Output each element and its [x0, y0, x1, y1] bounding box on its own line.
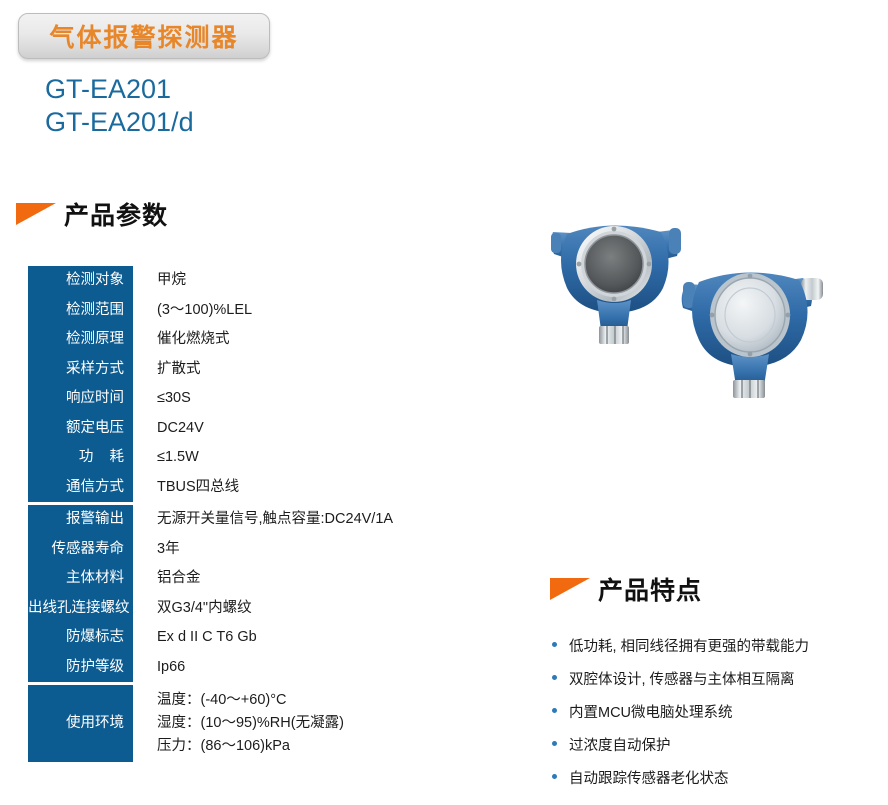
table-row: 检测原理 催化燃烧式	[28, 325, 433, 355]
spec-value: Ex d II C T6 Gb	[133, 623, 257, 653]
table-row: 通信方式 TBUS四总线	[28, 473, 433, 503]
spec-label: 主体材料	[28, 564, 133, 594]
spec-label: 传感器寿命	[28, 535, 133, 565]
model-number-list: GT-EA201 GT-EA201/d	[45, 73, 194, 139]
spec-label: 通信方式	[28, 473, 133, 503]
spec-value: TBUS四总线	[133, 473, 239, 503]
page-title-features: 产品特点	[598, 578, 702, 604]
orange-triangle-icon	[550, 578, 590, 600]
spec-value: 双G3/4"内螺纹	[133, 594, 252, 624]
table-row: 采样方式 扩散式	[28, 355, 433, 385]
product-category-badge: 气体报警探测器	[18, 13, 270, 59]
spec-value: 甲烷	[133, 266, 186, 296]
product-features-heading: 产品特点	[550, 578, 702, 604]
spec-value: 催化燃烧式	[133, 325, 230, 355]
feature-text: 自动跟踪传感器老化状态	[569, 763, 729, 796]
spec-group-basic: 检测对象 甲烷 检测范围 (3～100)%LEL 检测原理 催化燃烧式 采样方式…	[28, 266, 433, 502]
table-row: 检测范围 (3～100)%LEL	[28, 296, 433, 326]
table-row: 防护等级 Ip66	[28, 653, 433, 683]
page-title-parameters: 产品参数	[64, 203, 168, 229]
spec-value-temperature: 温度：(-40～+60)°C	[157, 689, 344, 712]
spec-value: ≤30S	[133, 384, 191, 414]
spec-group-environment: 使用环境 温度：(-40～+60)°C 湿度：(10～95)%RH(无凝露) 压…	[28, 685, 433, 762]
spec-value: 扩散式	[133, 355, 201, 385]
specifications-table: 检测对象 甲烷 检测范围 (3～100)%LEL 检测原理 催化燃烧式 采样方式…	[28, 266, 433, 762]
spec-label: 响应时间	[28, 384, 133, 414]
detector-unit-left	[551, 225, 681, 344]
detector-unit-right	[682, 272, 823, 398]
spec-label: 防爆标志	[28, 623, 133, 653]
table-row: 检测对象 甲烷	[28, 266, 433, 296]
table-row: 使用环境 温度：(-40～+60)°C 湿度：(10～95)%RH(无凝露) 压…	[28, 685, 433, 762]
bullet-dot-icon	[552, 708, 557, 713]
bullet-dot-icon	[552, 675, 557, 680]
model-number-primary: GT-EA201	[45, 73, 194, 106]
table-row: 额定电压 DC24V	[28, 414, 433, 444]
list-item: 过浓度自动保护	[552, 730, 882, 763]
spec-value: 温度：(-40～+60)°C 湿度：(10～95)%RH(无凝露) 压力：(86…	[133, 685, 344, 762]
spec-label: 检测原理	[28, 325, 133, 355]
table-row: 传感器寿命 3年	[28, 535, 433, 565]
spec-value: DC24V	[133, 414, 204, 444]
feature-text: 双腔体设计, 传感器与主体相互隔离	[569, 664, 795, 697]
spec-label: 采样方式	[28, 355, 133, 385]
spec-group-hardware: 报警输出 无源开关量信号,触点容量:DC24V/1A 传感器寿命 3年 主体材料…	[28, 505, 433, 682]
feature-text: 低功耗, 相同线径拥有更强的带载能力	[569, 631, 809, 664]
table-row: 出线孔连接螺纹 双G3/4"内螺纹	[28, 594, 433, 624]
model-number-secondary: GT-EA201/d	[45, 106, 194, 139]
product-parameters-heading: 产品参数	[16, 203, 168, 229]
bullet-dot-icon	[552, 741, 557, 746]
table-row: 主体材料 铝合金	[28, 564, 433, 594]
spec-value: 3年	[133, 535, 180, 565]
table-row: 防爆标志 Ex d II C T6 Gb	[28, 623, 433, 653]
table-row: 功 耗 ≤1.5W	[28, 443, 433, 473]
spec-value: Ip66	[133, 653, 185, 683]
feature-list: 低功耗, 相同线径拥有更强的带载能力 双腔体设计, 传感器与主体相互隔离 内置M…	[552, 631, 882, 796]
spec-label: 功 耗	[28, 443, 133, 473]
product-category-label: 气体报警探测器	[49, 18, 238, 54]
spec-value-pressure: 压力：(86～106)kPa	[157, 735, 344, 758]
bullet-dot-icon	[552, 774, 557, 779]
list-item: 低功耗, 相同线径拥有更强的带载能力	[552, 631, 882, 664]
list-item: 自动跟踪传感器老化状态	[552, 763, 882, 796]
spec-value: 无源开关量信号,触点容量:DC24V/1A	[133, 505, 393, 535]
product-photo	[545, 208, 875, 398]
spec-value: (3～100)%LEL	[133, 296, 252, 326]
spec-label: 检测对象	[28, 266, 133, 296]
spec-label: 防护等级	[28, 653, 133, 683]
list-item: 内置MCU微电脑处理系统	[552, 697, 882, 730]
spec-value-humidity: 湿度：(10～95)%RH(无凝露)	[157, 712, 344, 735]
spec-value: 铝合金	[133, 564, 201, 594]
orange-triangle-icon	[16, 203, 56, 225]
feature-text: 过浓度自动保护	[569, 730, 671, 763]
feature-text: 内置MCU微电脑处理系统	[569, 697, 733, 730]
list-item: 双腔体设计, 传感器与主体相互隔离	[552, 664, 882, 697]
spec-label: 检测范围	[28, 296, 133, 326]
spec-label: 使用环境	[28, 685, 133, 762]
table-row: 报警输出 无源开关量信号,触点容量:DC24V/1A	[28, 505, 433, 535]
table-row: 响应时间 ≤30S	[28, 384, 433, 414]
spec-value: ≤1.5W	[133, 443, 199, 473]
bullet-dot-icon	[552, 642, 557, 647]
spec-label: 额定电压	[28, 414, 133, 444]
spec-label: 出线孔连接螺纹	[28, 594, 133, 624]
spec-label: 报警输出	[28, 505, 133, 535]
